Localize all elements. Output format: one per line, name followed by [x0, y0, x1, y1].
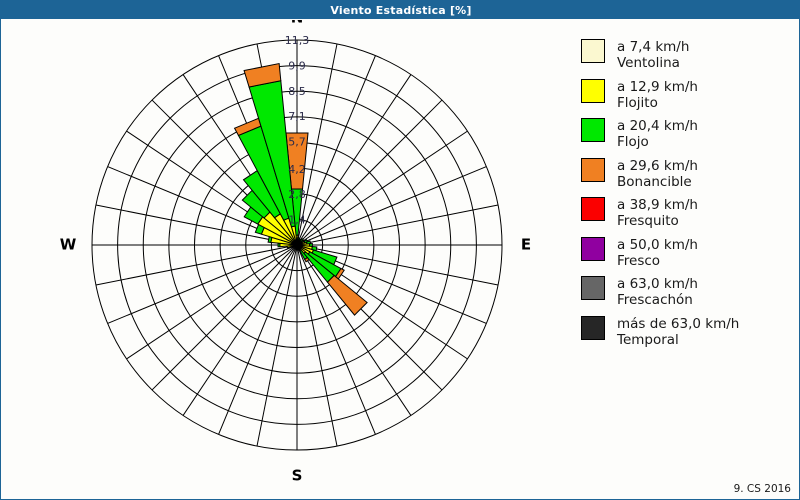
legend-color-swatch: [581, 79, 605, 103]
legend-name: Temporal: [617, 332, 739, 348]
radial-tick-label: 5,7: [288, 136, 306, 149]
legend-item[interactable]: a 20,4 km/hFlojo: [581, 118, 796, 150]
legend-item[interactable]: a 7,4 km/hVentolina: [581, 39, 796, 71]
legend-color-swatch: [581, 158, 605, 182]
legend-color-swatch: [581, 276, 605, 300]
wind-rose-svg: 1,42,84,25,77,18,59,911,3 NESW: [1, 20, 576, 500]
legend-name: Flojito: [617, 95, 698, 111]
legend-name: Ventolina: [617, 55, 689, 71]
radial-tick-label: 1,4: [288, 214, 306, 227]
direction-label-south: S: [292, 467, 303, 485]
legend-label: a 50,0 km/hFresco: [617, 237, 698, 269]
legend-speed: a 38,9 km/h: [617, 197, 698, 213]
legend-color-swatch: [581, 237, 605, 261]
legend-label: a 38,9 km/hFresquito: [617, 197, 698, 229]
legend-speed: a 63,0 km/h: [617, 276, 698, 292]
legend-color-swatch: [581, 39, 605, 63]
radial-tick-label: 7,1: [288, 110, 306, 123]
radial-tick-label: 4,2: [288, 163, 306, 176]
grid-spoke: [297, 100, 442, 245]
legend: a 7,4 km/hVentolinaa 12,9 km/hFlojitoa 2…: [581, 39, 796, 355]
petal-segment: [328, 276, 368, 316]
legend-speed: a 50,0 km/h: [617, 237, 698, 253]
legend-item[interactable]: a 29,6 km/hBonancible: [581, 158, 796, 190]
wind-rose-window: Viento Estadística [%] 1,42,84,25,77,18,…: [0, 0, 800, 500]
direction-label-east: E: [521, 236, 531, 254]
legend-speed: a 20,4 km/h: [617, 118, 698, 134]
window-titlebar: Viento Estadística [%]: [1, 1, 800, 19]
radial-tick-label: 2,8: [288, 188, 306, 201]
legend-name: Flojo: [617, 134, 698, 150]
petal-segment: [298, 248, 300, 250]
grid-spoke: [152, 245, 297, 390]
legend-item[interactable]: a 12,9 km/hFlojito: [581, 79, 796, 111]
legend-name: Fresquito: [617, 213, 698, 229]
legend-name: Bonancible: [617, 174, 698, 190]
legend-label: más de 63,0 km/hTemporal: [617, 316, 739, 348]
direction-label-north: N: [291, 20, 304, 27]
legend-label: a 12,9 km/hFlojito: [617, 79, 698, 111]
legend-label: a 20,4 km/hFlojo: [617, 118, 698, 150]
window-title: Viento Estadística [%]: [330, 4, 471, 17]
legend-color-swatch: [581, 118, 605, 142]
footer-credit: 9. CS 2016: [734, 483, 791, 495]
legend-name: Frescachón: [617, 292, 698, 308]
grid-spoke: [108, 245, 297, 323]
grid-spoke: [297, 167, 486, 245]
legend-label: a 63,0 km/hFrescachón: [617, 276, 698, 308]
legend-speed: a 29,6 km/h: [617, 158, 698, 174]
legend-label: a 29,6 km/hBonancible: [617, 158, 698, 190]
legend-speed: a 12,9 km/h: [617, 79, 698, 95]
legend-item[interactable]: a 50,0 km/hFresco: [581, 237, 796, 269]
wind-rose-plot: 1,42,84,25,77,18,59,911,3 NESW: [1, 20, 576, 500]
grid-spoke: [297, 56, 375, 245]
legend-color-swatch: [581, 316, 605, 340]
direction-label-west: W: [60, 236, 77, 254]
legend-color-swatch: [581, 197, 605, 221]
legend-item[interactable]: a 63,0 km/hFrescachón: [581, 276, 796, 308]
legend-item[interactable]: más de 63,0 km/hTemporal: [581, 316, 796, 348]
radial-tick-label: 8,5: [288, 85, 306, 98]
legend-speed: a 7,4 km/h: [617, 39, 689, 55]
grid-spoke: [219, 245, 297, 434]
radial-tick-label: 11,3: [285, 34, 310, 47]
legend-item[interactable]: a 38,9 km/hFresquito: [581, 197, 796, 229]
legend-name: Fresco: [617, 253, 698, 269]
radial-tick-label: 9,9: [288, 59, 306, 72]
legend-label: a 7,4 km/hVentolina: [617, 39, 689, 71]
legend-speed: más de 63,0 km/h: [617, 316, 739, 332]
